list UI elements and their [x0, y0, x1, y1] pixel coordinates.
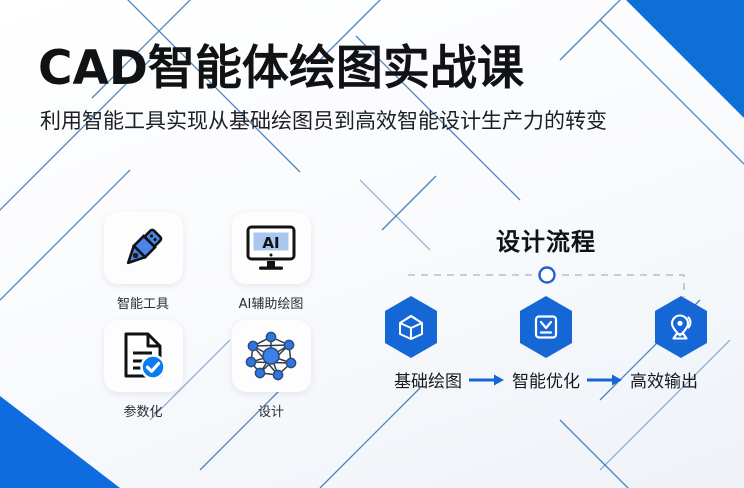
pen-nib-icon	[117, 222, 169, 274]
feature-card-label: AI辅助绘图	[239, 293, 304, 312]
feature-card-tile	[104, 212, 183, 284]
page-title: CAD智能体绘图实战课	[38, 44, 607, 95]
network-nodes-icon	[244, 330, 298, 382]
feature-card-tile	[104, 320, 183, 392]
dashed-bracket	[366, 263, 726, 297]
location-pin-icon	[666, 312, 696, 342]
open-box-icon	[397, 313, 425, 341]
flow-step-label-2: 智能优化	[512, 367, 580, 392]
flow-step-basic-drafting[interactable]	[382, 295, 440, 359]
feature-card-tile	[232, 320, 311, 392]
arrow-right-icon	[468, 373, 506, 387]
download-box-icon	[532, 313, 560, 341]
circle-node-icon	[540, 268, 555, 283]
flow-step-label-3: 高效输出	[630, 367, 698, 392]
flow-step-label-1: 基础绘图	[394, 367, 462, 392]
feature-card-ai-drafting[interactable]: AI AI辅助绘图	[212, 212, 330, 312]
feature-card-label: 智能工具	[117, 293, 169, 312]
feature-card-smart-tools[interactable]: 智能工具	[84, 212, 202, 312]
flow-title: 设计流程	[366, 222, 726, 257]
feature-card-label: 参数化	[123, 401, 162, 420]
feature-card-tile: AI	[232, 212, 311, 284]
flow-step-smart-optimization[interactable]	[517, 295, 575, 359]
feature-card-grid: 智能工具 AI AI辅助绘图	[84, 212, 330, 420]
flow-step-icons	[366, 295, 726, 359]
design-flow-section: 设计流程	[366, 222, 726, 392]
ai-monitor-icon: AI	[244, 223, 298, 273]
course-banner: CAD智能体绘图实战课 利用智能工具实现从基础绘图员到高效智能设计生产力的转变 …	[0, 0, 744, 488]
flow-step-efficient-output[interactable]	[652, 295, 710, 359]
feature-card-design[interactable]: 设计	[212, 320, 330, 420]
banner-header: CAD智能体绘图实战课 利用智能工具实现从基础绘图员到高效智能设计生产力的转变	[38, 44, 607, 134]
top-right-blue-triangle	[626, 0, 744, 118]
flow-connector	[366, 263, 726, 297]
page-subtitle: 利用智能工具实现从基础绘图员到高效智能设计生产力的转变	[40, 109, 607, 134]
feature-card-label: 设计	[258, 401, 284, 420]
document-check-icon	[118, 330, 168, 382]
arrow-right-icon	[586, 373, 624, 387]
ai-screen-text: AI	[262, 234, 279, 252]
feature-card-parametric[interactable]: 参数化	[84, 320, 202, 420]
flow-step-labels: 基础绘图 智能优化 高效输出	[366, 367, 726, 392]
